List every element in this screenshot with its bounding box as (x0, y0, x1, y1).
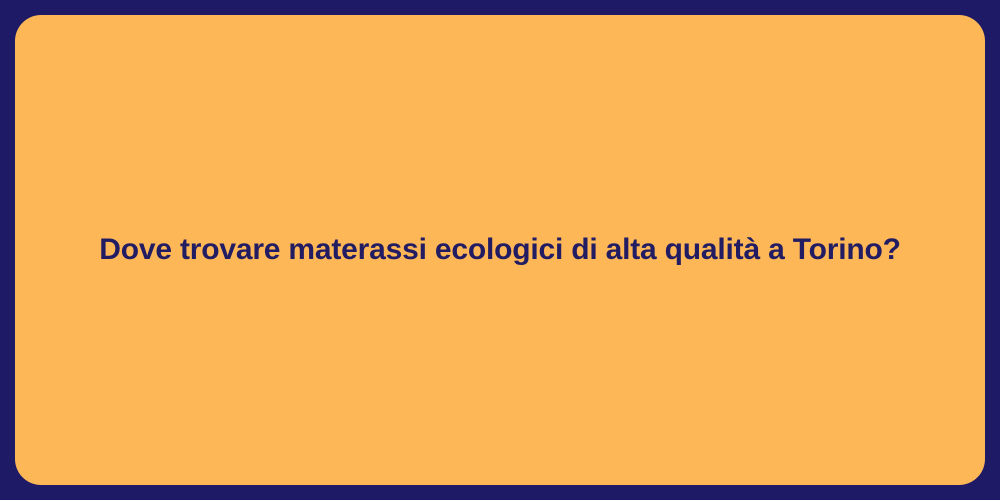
page-title: Dove trovare materassi ecologici di alta… (59, 231, 940, 269)
content-card: Dove trovare materassi ecologici di alta… (15, 15, 985, 485)
page-frame: Dove trovare materassi ecologici di alta… (0, 0, 1000, 500)
